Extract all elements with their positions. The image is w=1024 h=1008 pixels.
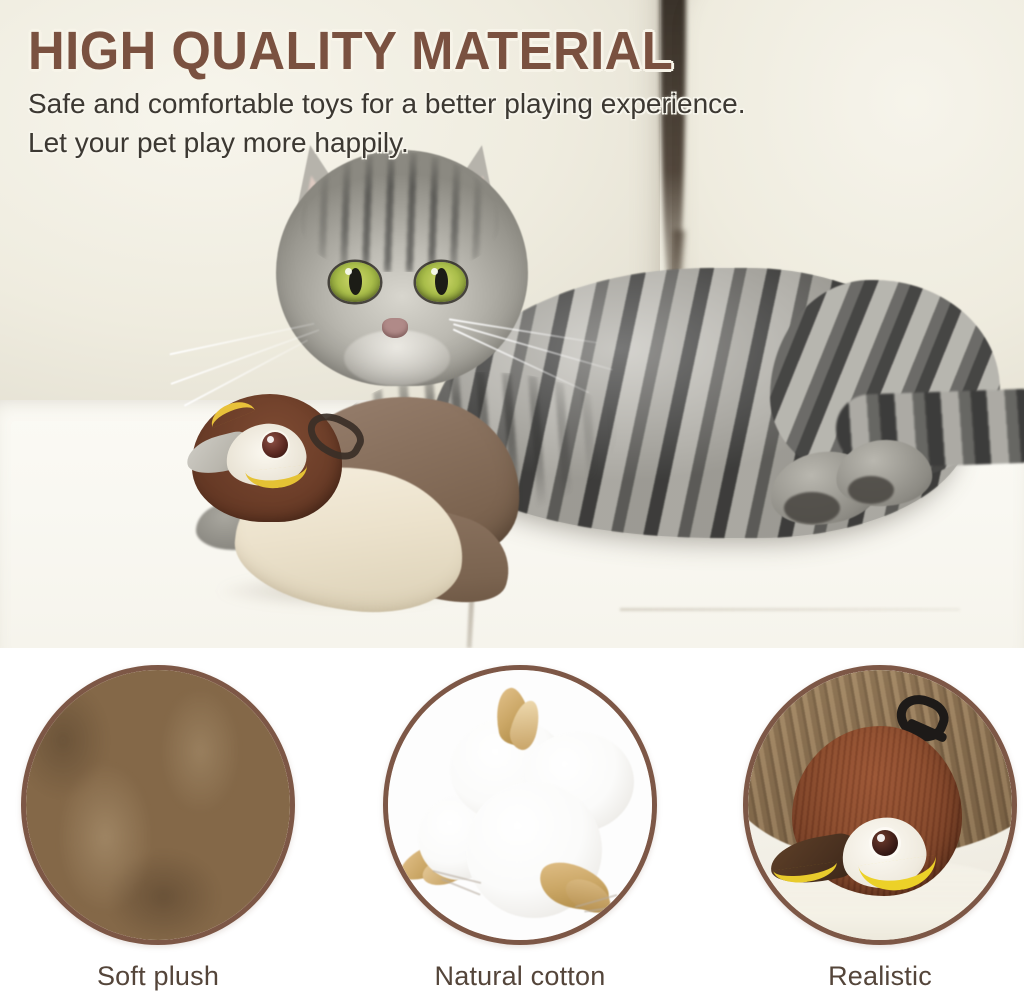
plush-bird-closeup-image — [748, 670, 1012, 940]
toy-eye-glint — [267, 436, 274, 443]
feature-caption-soft-plush: Soft plush — [8, 961, 308, 992]
cotton-image — [388, 670, 652, 940]
feature-strip: Soft plush — [0, 648, 1024, 1008]
closeup-eye-glint — [877, 834, 885, 842]
product-infographic: HIGH QUALITY MATERIAL Safe and comfortab… — [0, 0, 1024, 1008]
subtitle-line-2: Let your pet play more happily. — [28, 127, 409, 159]
cat-paw-pad — [784, 492, 840, 524]
cat-paw-pad — [848, 476, 894, 504]
toy-eye — [262, 432, 288, 458]
closeup-eye — [872, 830, 898, 856]
cat-eye-glint-left — [345, 268, 352, 275]
page-title: HIGH QUALITY MATERIAL — [28, 22, 673, 80]
cat-nose — [382, 318, 408, 338]
feature-caption-natural-cotton: Natural cotton — [370, 961, 670, 992]
sofa-seat-seam-right — [620, 608, 960, 611]
subtitle-line-1: Safe and comfortable toys for a better p… — [28, 88, 746, 120]
feature-caption-realistic: Realistic — [730, 961, 1024, 992]
fur-highlights — [26, 670, 290, 940]
feature-circle-natural-cotton — [383, 665, 657, 945]
hero-photo: HIGH QUALITY MATERIAL Safe and comfortab… — [0, 0, 1024, 648]
cat-muzzle — [344, 330, 450, 386]
feature-circle-soft-plush — [21, 665, 295, 945]
plush-fur-image — [26, 670, 290, 940]
cat-eye-glint-right — [431, 268, 438, 275]
feature-circle-realistic — [743, 665, 1017, 945]
